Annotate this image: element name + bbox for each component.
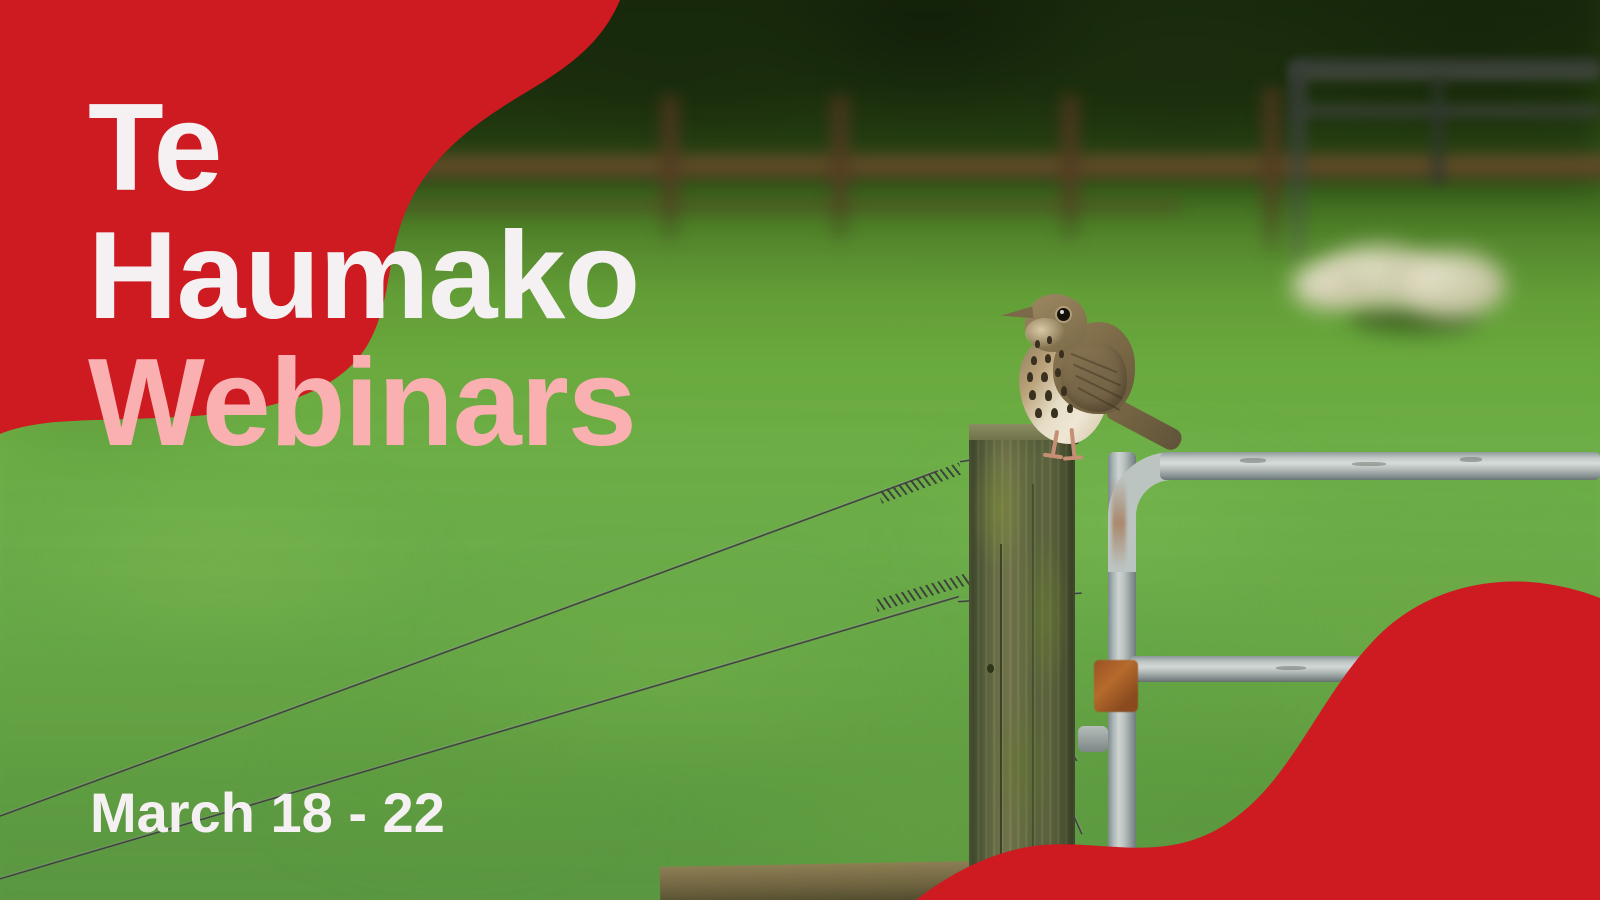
bird-breast-spot xyxy=(1035,408,1042,418)
gate-blemish xyxy=(1460,457,1482,462)
wood-crack xyxy=(1000,544,1002,874)
bird-breast-spot xyxy=(1035,340,1040,348)
song-thrush-bird xyxy=(995,288,1175,460)
webinar-promo-banner: Te Haumako Webinars March 18 - 22 xyxy=(0,0,1600,900)
title-block: Te Haumako Webinars xyxy=(88,88,868,465)
bird-breast-spot xyxy=(1055,368,1061,377)
moss-on-post xyxy=(969,424,1075,900)
bird-eye-highlight xyxy=(1060,310,1064,314)
bird-foot xyxy=(1043,453,1063,460)
wooden-fence-post xyxy=(969,424,1075,900)
bird-breast-spot xyxy=(1031,356,1037,365)
bird-foot xyxy=(1063,455,1083,460)
bird-breast-spot xyxy=(1047,336,1052,344)
bird-breast-spot xyxy=(1059,350,1064,358)
bird-breast-spot xyxy=(1029,390,1036,400)
bird-breast-spot xyxy=(1067,404,1073,413)
bird-breast-spot xyxy=(1061,386,1067,396)
sheep xyxy=(1292,262,1362,310)
title-line-2: Haumako xyxy=(88,216,868,338)
gate-blemish xyxy=(1276,666,1306,670)
title-line-3: Webinars xyxy=(88,343,868,465)
sheep xyxy=(1398,252,1506,318)
title-line-1: Te xyxy=(88,88,868,210)
gate-middle-rail xyxy=(1130,656,1600,682)
bird-breast-spot xyxy=(1041,372,1048,382)
wood-knot xyxy=(987,664,994,673)
gate-bolt xyxy=(1078,726,1108,752)
bird-breast-spot xyxy=(1051,408,1058,418)
wood-crack xyxy=(1032,484,1034,884)
bird-breast-spot xyxy=(1045,390,1052,401)
bird-breast-spot xyxy=(1027,372,1033,382)
gate-blemish xyxy=(1240,458,1266,463)
bird-cheek xyxy=(1025,318,1065,348)
gate-rust-streak xyxy=(1112,478,1126,568)
gate-rusty-hinge xyxy=(1094,660,1138,712)
gate-top-rail xyxy=(1160,452,1600,480)
gate-blemish xyxy=(1352,462,1386,466)
bird-breast-spot xyxy=(1045,354,1051,363)
date-range-label: March 18 - 22 xyxy=(90,780,445,845)
